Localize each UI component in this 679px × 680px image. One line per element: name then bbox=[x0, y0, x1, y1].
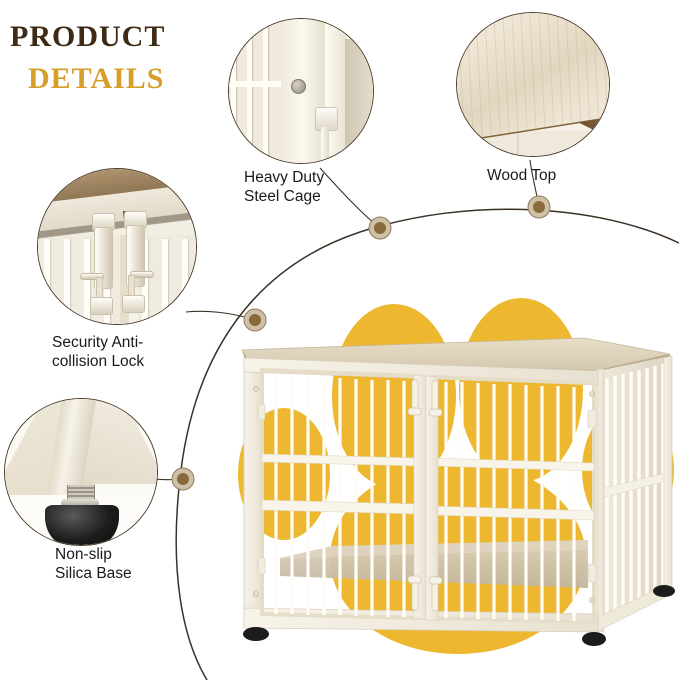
left-door-rail-upper bbox=[262, 454, 418, 466]
cage-left-bars-group bbox=[228, 19, 283, 163]
label-non-slip-silica-base: Non-slip Silica Base bbox=[55, 545, 205, 583]
label-line-2: Silica Base bbox=[55, 564, 205, 583]
wood-top-cabinet-seam bbox=[517, 131, 519, 157]
inset-security-lock bbox=[37, 168, 197, 325]
cage-bar bbox=[231, 19, 236, 163]
inset-security-lock-photo bbox=[38, 169, 196, 324]
product-image-dog-crate bbox=[236, 258, 676, 668]
cage-bar bbox=[247, 19, 252, 163]
left-door-rail-lower bbox=[262, 500, 418, 514]
label-line-1: Non-slip bbox=[55, 545, 205, 564]
crate-door-left bbox=[254, 370, 418, 618]
lock-cabinet-body bbox=[38, 235, 197, 325]
label-line-1: Security Anti- bbox=[52, 333, 222, 352]
lock-bolt-right-base bbox=[122, 295, 145, 313]
label-line-2: collision Lock bbox=[52, 352, 222, 371]
cage-rail bbox=[228, 81, 283, 87]
cage-screw-icon bbox=[291, 79, 306, 94]
infographic-canvas: PRODUCT DETAILS bbox=[0, 0, 679, 680]
label-line-1: Heavy Duty bbox=[244, 168, 384, 187]
cage-inner-panel bbox=[345, 39, 374, 163]
dot-steel-cage bbox=[369, 217, 391, 239]
label-line-2: Steel Cage bbox=[244, 187, 384, 206]
left-door-screw-top bbox=[254, 387, 259, 392]
foot-back-right bbox=[653, 585, 675, 597]
right-door-screw-top bbox=[590, 392, 595, 397]
right-door-hinge-bottom bbox=[588, 564, 596, 582]
silica-foot-icon bbox=[45, 505, 119, 546]
crate-center-latch-assembly bbox=[408, 375, 442, 621]
label-heavy-duty-steel-cage: Heavy Duty Steel Cage bbox=[244, 168, 384, 206]
left-door-bars bbox=[276, 375, 404, 617]
inset-steel-cage-photo bbox=[229, 19, 373, 163]
inset-steel-cage bbox=[228, 18, 374, 164]
inset-silica-base-photo bbox=[5, 399, 157, 545]
lock-bar bbox=[182, 239, 188, 325]
label-line-1: Wood Top bbox=[487, 166, 627, 185]
cage-latch-rod bbox=[321, 127, 329, 163]
dot-base bbox=[172, 468, 194, 490]
right-door-screw-bottom bbox=[590, 598, 595, 603]
lock-bar bbox=[64, 239, 70, 325]
crate-illustration bbox=[236, 258, 676, 668]
lock-bar bbox=[162, 239, 168, 325]
inset-wood-top-photo bbox=[457, 13, 609, 156]
foot-front-right bbox=[582, 632, 606, 646]
dot-wood-top bbox=[528, 196, 550, 218]
foot-front-left bbox=[243, 627, 269, 641]
right-door-rail-lower bbox=[432, 506, 594, 520]
right-door-rail-upper bbox=[432, 458, 594, 471]
label-wood-top: Wood Top bbox=[487, 166, 627, 185]
inset-silica-base bbox=[4, 398, 158, 546]
crate-left-post bbox=[244, 358, 262, 630]
lock-bar bbox=[44, 239, 50, 325]
left-door-screw-bottom bbox=[254, 592, 259, 597]
left-door-hinge-top bbox=[258, 404, 265, 420]
lock-bolt-left-base bbox=[90, 297, 113, 315]
label-security-anti-collision-lock: Security Anti- collision Lock bbox=[52, 333, 222, 371]
cage-bar bbox=[263, 19, 268, 163]
left-door-hinge-bottom bbox=[258, 558, 265, 574]
right-door-hinge-top bbox=[588, 410, 596, 428]
inset-wood-top bbox=[456, 12, 610, 157]
